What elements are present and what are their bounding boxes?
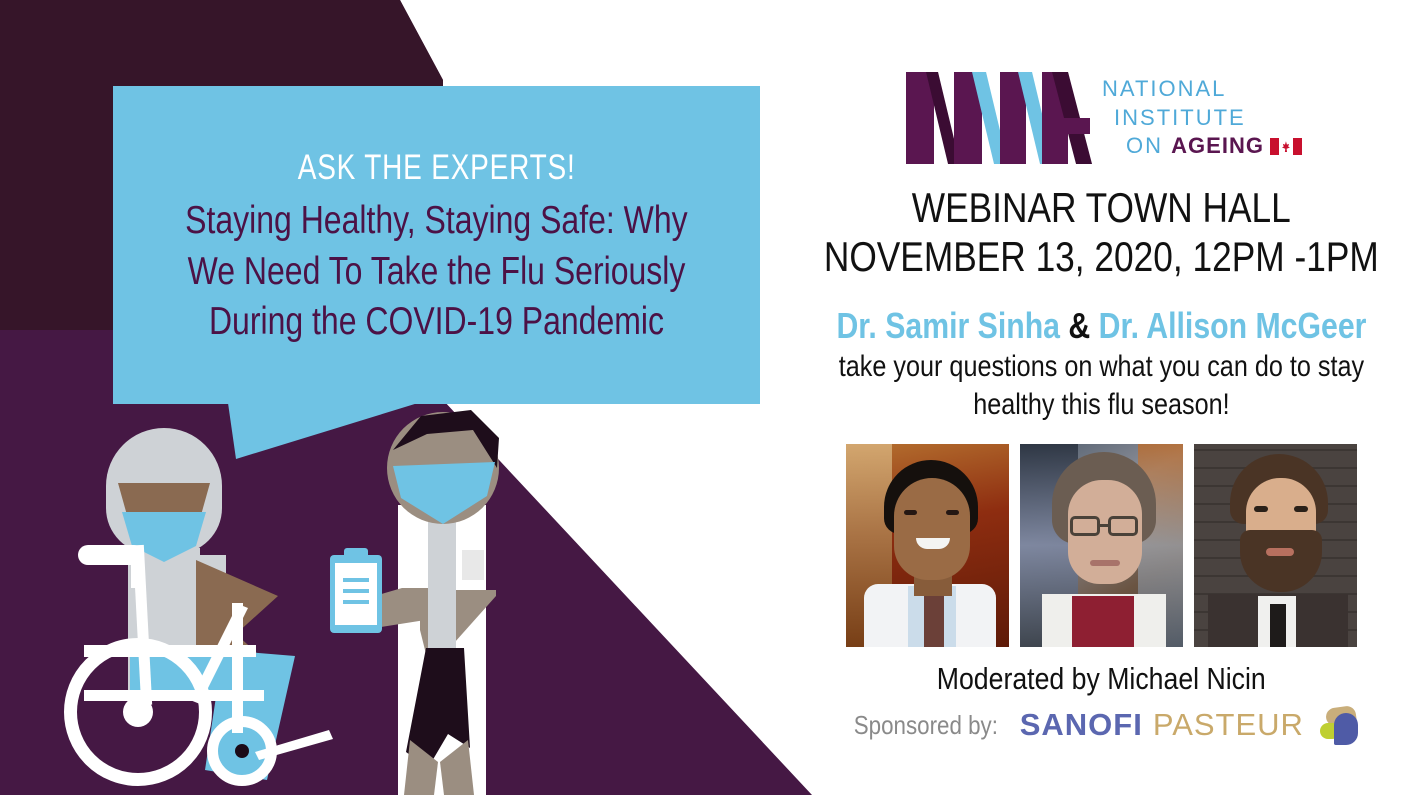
bubble-title-line-2: We Need To Take the Flu Seriously <box>188 247 686 298</box>
photo-allison-mcgeer <box>1020 444 1183 647</box>
clipboard-line <box>343 600 369 604</box>
doctor-coat-lapel <box>428 520 456 650</box>
speaker-name-2: Dr. Allison McGeer <box>1098 305 1366 346</box>
logo-ageing: AGEING <box>1171 133 1264 158</box>
clipboard-paper <box>335 563 377 625</box>
speakers-block: Dr. Samir Sinha & Dr. Allison McGeer tak… <box>786 304 1417 422</box>
right-content-column: NATIONAL INSTITUTE ON AGEING WEBINAR TOW… <box>780 0 1422 795</box>
canada-flag-icon <box>1270 138 1302 155</box>
doctor-coat-pocket <box>462 550 484 580</box>
speaker-names: Dr. Samir Sinha & Dr. Allison McGeer <box>836 304 1366 347</box>
speech-bubble: ASK THE EXPERTS! Staying Healthy, Stayin… <box>113 86 760 404</box>
moderator-credit: Moderated by Michael Nicin <box>937 661 1266 697</box>
event-headline: WEBINAR TOWN HALL NOVEMBER 13, 2020, 12P… <box>771 168 1422 280</box>
wheelchair-rear-hub <box>123 697 153 727</box>
logo-line-on-ageing: ON AGEING <box>1102 132 1302 161</box>
photo-michael-nicin <box>1194 444 1357 647</box>
clipboard-line <box>343 578 369 582</box>
logo-line-national: NATIONAL <box>1102 75 1302 104</box>
wheelchair-front-post <box>232 603 243 733</box>
headline-line-1: WEBINAR TOWN HALL <box>824 184 1379 231</box>
sponsored-by-label: Sponsored by: <box>854 710 998 741</box>
nia-logo-mark-icon <box>900 66 1090 166</box>
bubble-title-line-1: Staying Healthy, Staying Safe: Why <box>185 196 687 247</box>
speaker-name-1: Dr. Samir Sinha <box>836 305 1060 346</box>
bubble-kicker: ASK THE EXPERTS! <box>298 146 576 190</box>
speaker-ampersand: & <box>1060 305 1099 346</box>
webinar-poster: ASK THE EXPERTS! Staying Healthy, Stayin… <box>0 0 1422 795</box>
nia-logo: NATIONAL INSTITUTE ON AGEING <box>900 64 1302 168</box>
pasteur-wordmark: PASTEUR <box>1153 707 1304 743</box>
bubble-title-line-3: During the COVID-19 Pandemic <box>209 297 664 348</box>
sanofi-logo-icon <box>1318 705 1360 745</box>
clipboard-line <box>343 589 369 593</box>
photo-samir-sinha <box>846 444 1009 647</box>
clipboard-clip <box>344 548 368 560</box>
logo-on: ON <box>1126 133 1163 158</box>
wheelchair-front-hub <box>235 744 249 758</box>
tagline-line-1: take your questions on what you can do t… <box>836 349 1366 384</box>
wheelchair-handle <box>78 545 144 565</box>
sponsor-block: Sponsored by: SANOFI PASTEUR <box>842 705 1360 745</box>
tagline-line-2: healthy this flu season! <box>836 387 1366 422</box>
headline-line-2: NOVEMBER 13, 2020, 12PM -1PM <box>824 233 1379 280</box>
logo-line-institute: INSTITUTE <box>1102 104 1302 133</box>
nia-logo-text: NATIONAL INSTITUTE ON AGEING <box>1102 71 1302 161</box>
sanofi-wordmark: SANOFI <box>1020 707 1143 743</box>
speaker-photos <box>846 444 1357 647</box>
